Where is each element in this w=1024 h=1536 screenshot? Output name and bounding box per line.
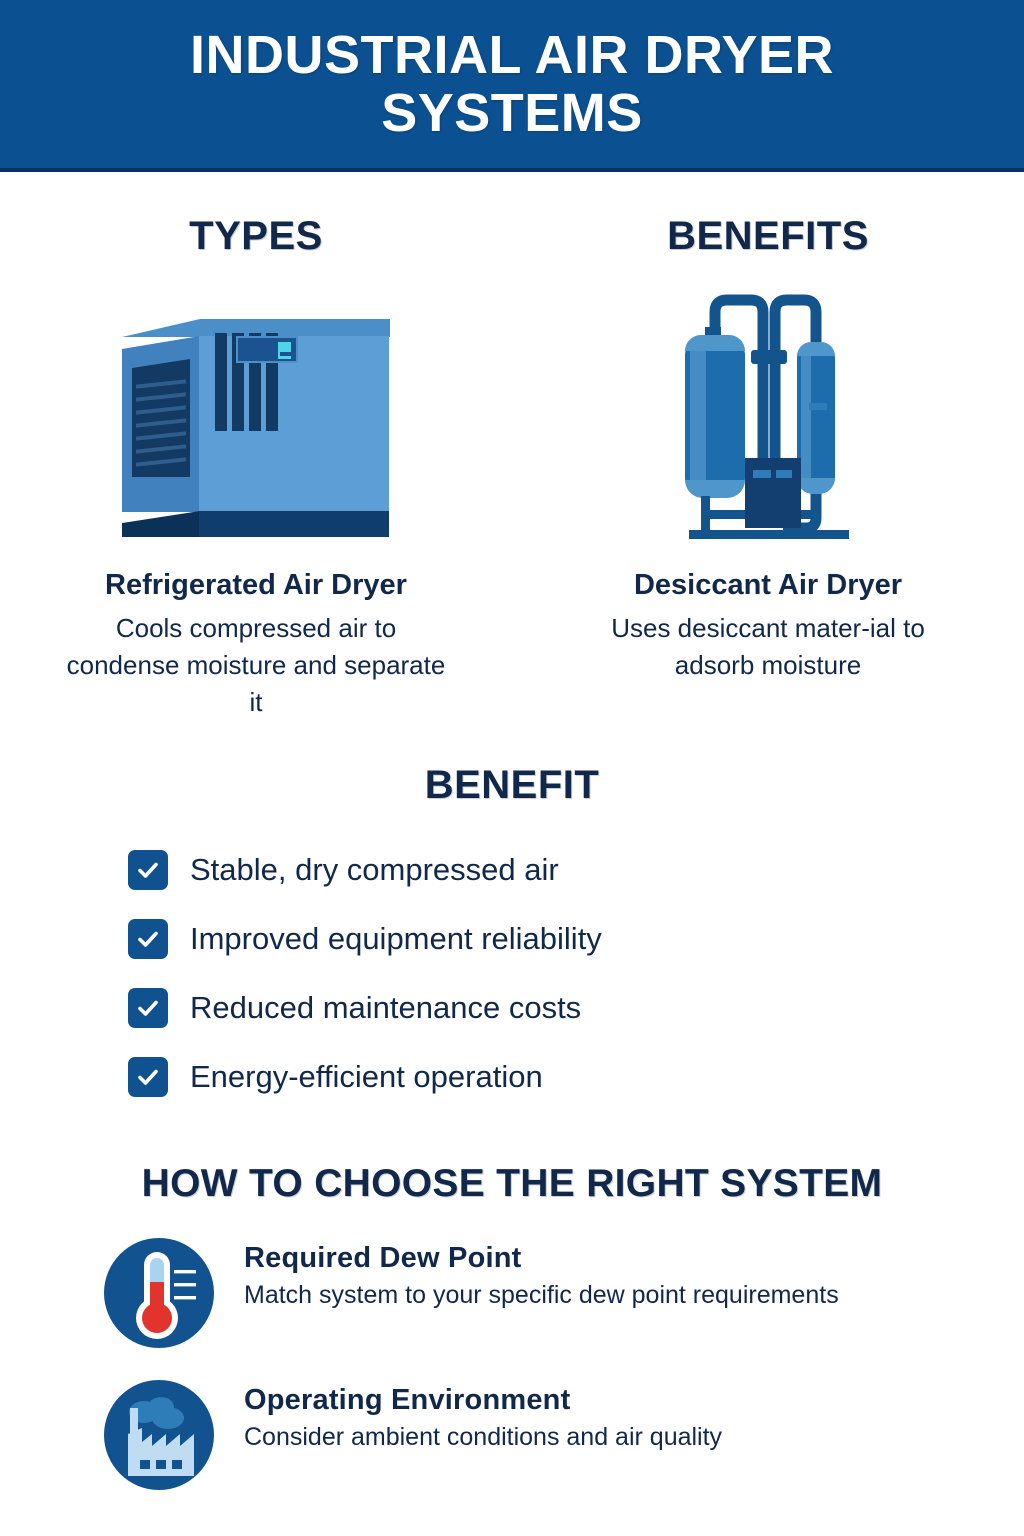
checkbox-checked-icon[interactable] xyxy=(128,1057,168,1097)
choose-item-title: Required Dew Point xyxy=(244,1242,839,1275)
desiccant-dryer-illustration xyxy=(663,305,873,545)
list-item: Energy-efficient operation xyxy=(128,1043,1024,1112)
check-icon xyxy=(136,927,160,951)
list-item: Reduced maintenance costs xyxy=(128,974,1024,1043)
how-to-choose-section: HOW TO CHOOSE THE RIGHT SYSTEM Required … xyxy=(0,1162,1024,1490)
types-item-title: Refrigerated Air Dryer xyxy=(105,569,407,602)
benefits-item-title: Desiccant Air Dryer xyxy=(634,569,902,602)
benefit-item-label: Energy-efficient operation xyxy=(190,1059,543,1095)
benefits-item-description: Uses desiccant mater-ial to adsorb moist… xyxy=(578,610,958,684)
refrigerated-dryer-icon xyxy=(122,319,390,545)
choose-item-title: Operating Environment xyxy=(244,1384,722,1417)
refrigerated-dryer-illustration xyxy=(122,305,390,545)
benefits-column: BENEFITS xyxy=(512,214,1024,721)
factory-icon xyxy=(104,1380,214,1490)
choose-item-text: Operating Environment Consider ambient c… xyxy=(244,1380,722,1452)
checkbox-checked-icon[interactable] xyxy=(128,988,168,1028)
types-item-description: Cools compressed air to condense moistur… xyxy=(66,610,446,721)
choose-item-dew-point: Required Dew Point Match system to your … xyxy=(0,1238,1024,1348)
check-icon xyxy=(136,858,160,882)
benefit-item-label: Stable, dry compressed air xyxy=(190,852,559,888)
check-icon xyxy=(136,996,160,1020)
benefit-item-label: Improved equipment reliability xyxy=(190,921,602,957)
thermometer-icon xyxy=(104,1238,214,1348)
benefit-list-heading: BENEFIT xyxy=(0,763,1024,808)
types-heading: TYPES xyxy=(189,214,323,259)
checkbox-checked-icon[interactable] xyxy=(128,919,168,959)
desiccant-dryer-icon xyxy=(663,290,873,545)
benefit-item-label: Reduced maintenance costs xyxy=(190,990,581,1026)
page-header: Industrial Air Dryer Systems xyxy=(0,0,1024,172)
choose-item-text: Required Dew Point Match system to your … xyxy=(244,1238,839,1310)
list-item: Improved equipment reliability xyxy=(128,905,1024,974)
types-column: TYPES xyxy=(0,214,512,721)
check-icon xyxy=(136,1065,160,1089)
list-item: Stable, dry compressed air xyxy=(128,836,1024,905)
choose-item-operating-environment: Operating Environment Consider ambient c… xyxy=(0,1380,1024,1490)
checkbox-checked-icon[interactable] xyxy=(128,850,168,890)
choose-item-description: Consider ambient conditions and air qual… xyxy=(244,1423,722,1452)
types-benefits-row: TYPES xyxy=(0,172,1024,721)
choose-item-description: Match system to your specific dew point … xyxy=(244,1281,839,1310)
how-to-choose-heading: HOW TO CHOOSE THE RIGHT SYSTEM xyxy=(0,1162,1024,1206)
benefit-list-section: BENEFIT Stable, dry compressed air Impro… xyxy=(0,763,1024,1112)
page-title: Industrial Air Dryer Systems xyxy=(97,26,927,143)
benefit-checklist: Stable, dry compressed air Improved equi… xyxy=(0,836,1024,1112)
benefits-heading: BENEFITS xyxy=(667,214,869,259)
